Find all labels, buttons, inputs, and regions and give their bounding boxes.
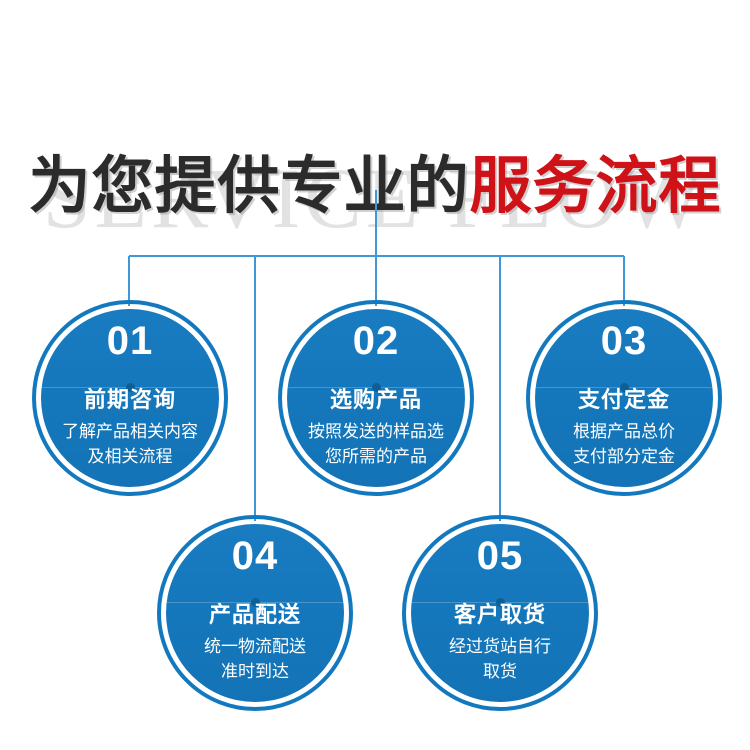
step-description: 了解产品相关内容 及相关流程 (36, 419, 224, 469)
step-heading: 产品配送 (157, 604, 353, 626)
step-heading: 客户取货 (402, 604, 598, 626)
page-title-dark-segment: 为您提供专业的 (28, 152, 469, 221)
step-description-line-1: 经过货站自行 (406, 634, 594, 659)
step-description-line-1: 根据产品总价 (530, 419, 718, 444)
step-description-line-2: 支付部分定金 (530, 444, 718, 469)
step-description: 统一物流配送 准时到达 (161, 634, 349, 684)
step-node-04[interactable]: 04 产品配送 统一物流配送 准时到达 (157, 515, 353, 711)
step-number: 02 (278, 321, 474, 361)
step-description-line-2: 及相关流程 (36, 444, 224, 469)
step-node-03[interactable]: 03 支付定金 根据产品总价 支付部分定金 (526, 300, 722, 496)
step-heading: 前期咨询 (32, 389, 228, 411)
service-flow-infographic: SERVICE FLOW 为您提供专业的服务流程 01 前期咨询 (0, 0, 750, 750)
step-number: 03 (526, 321, 722, 361)
step-node-02[interactable]: 02 选购产品 按照发送的样品选 您所需的产品 (278, 300, 474, 496)
step-node-01[interactable]: 01 前期咨询 了解产品相关内容 及相关流程 (32, 300, 228, 496)
step-description-line-2: 准时到达 (161, 659, 349, 684)
step-description: 按照发送的样品选 您所需的产品 (282, 419, 470, 469)
step-heading: 支付定金 (526, 389, 722, 411)
header-block: SERVICE FLOW 为您提供专业的服务流程 (0, 72, 750, 192)
step-heading: 选购产品 (278, 389, 474, 411)
step-description-line-2: 您所需的产品 (282, 444, 470, 469)
step-node-05[interactable]: 05 客户取货 经过货站自行 取货 (402, 515, 598, 711)
page-title-red-segment: 服务流程 (470, 152, 722, 221)
step-number: 05 (402, 536, 598, 576)
step-description-line-2: 取货 (406, 659, 594, 684)
step-description-line-1: 按照发送的样品选 (282, 419, 470, 444)
step-description-line-1: 统一物流配送 (161, 634, 349, 659)
step-description: 经过货站自行 取货 (406, 634, 594, 684)
step-description-line-1: 了解产品相关内容 (36, 419, 224, 444)
step-number: 01 (32, 321, 228, 361)
step-number: 04 (157, 536, 353, 576)
page-title: 为您提供专业的服务流程 (0, 156, 750, 218)
step-description: 根据产品总价 支付部分定金 (530, 419, 718, 469)
